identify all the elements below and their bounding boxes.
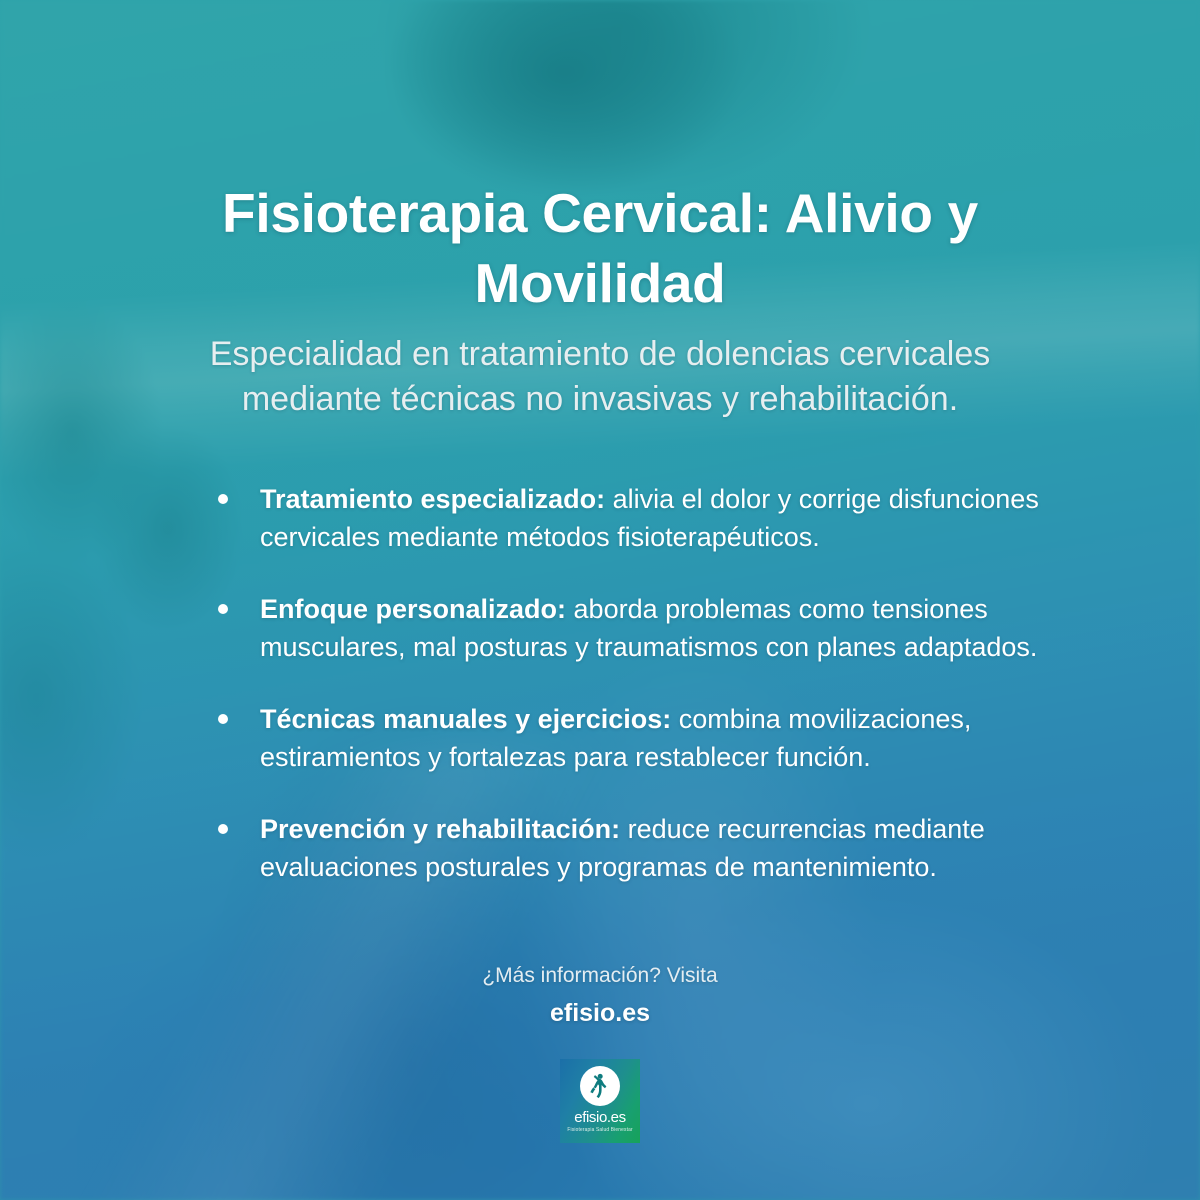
- poster-content: Fisioterapia Cervical: Alivio y Movilida…: [0, 0, 1200, 1200]
- stretching-figure-icon: [587, 1072, 613, 1100]
- list-item-lead: Prevención y rehabilitación:: [260, 814, 620, 844]
- page-subtitle: Especialidad en tratamiento de dolencias…: [150, 332, 1050, 422]
- bullet-dot-icon: [218, 714, 228, 724]
- list-item-lead: Tratamiento especializado:: [260, 484, 605, 514]
- footer-website-link[interactable]: efisio.es: [482, 997, 717, 1029]
- list-item: Prevención y rehabilitación: reduce recu…: [130, 810, 1070, 886]
- logo-tagline: Fisioterapia Salud Bienestar: [567, 1127, 632, 1134]
- footer-block: ¿Más información? Visita efisio.es: [482, 962, 717, 1029]
- list-item-lead: Técnicas manuales y ejercicios:: [260, 704, 671, 734]
- logo-circle: [580, 1066, 620, 1106]
- bullet-dot-icon: [218, 824, 228, 834]
- page-title: Fisioterapia Cervical: Alivio y Movilida…: [150, 178, 1050, 318]
- brand-logo[interactable]: efisio.es Fisioterapia Salud Bienestar: [560, 1059, 640, 1143]
- list-item-lead: Enfoque personalizado:: [260, 594, 566, 624]
- list-item: Tratamiento especializado: alivia el dol…: [130, 480, 1070, 556]
- footer-cta-text: ¿Más información? Visita: [482, 962, 717, 990]
- headline-block: Fisioterapia Cervical: Alivio y Movilida…: [150, 178, 1050, 422]
- list-item: Técnicas manuales y ejercicios: combina …: [130, 700, 1070, 776]
- benefits-list: Tratamiento especializado: alivia el dol…: [130, 480, 1070, 886]
- poster-canvas: Fisioterapia Cervical: Alivio y Movilida…: [0, 0, 1200, 1200]
- bullet-dot-icon: [218, 604, 228, 614]
- logo-wordmark: efisio.es: [574, 1110, 625, 1126]
- bullet-dot-icon: [218, 494, 228, 504]
- list-item: Enfoque personalizado: aborda problemas …: [130, 590, 1070, 666]
